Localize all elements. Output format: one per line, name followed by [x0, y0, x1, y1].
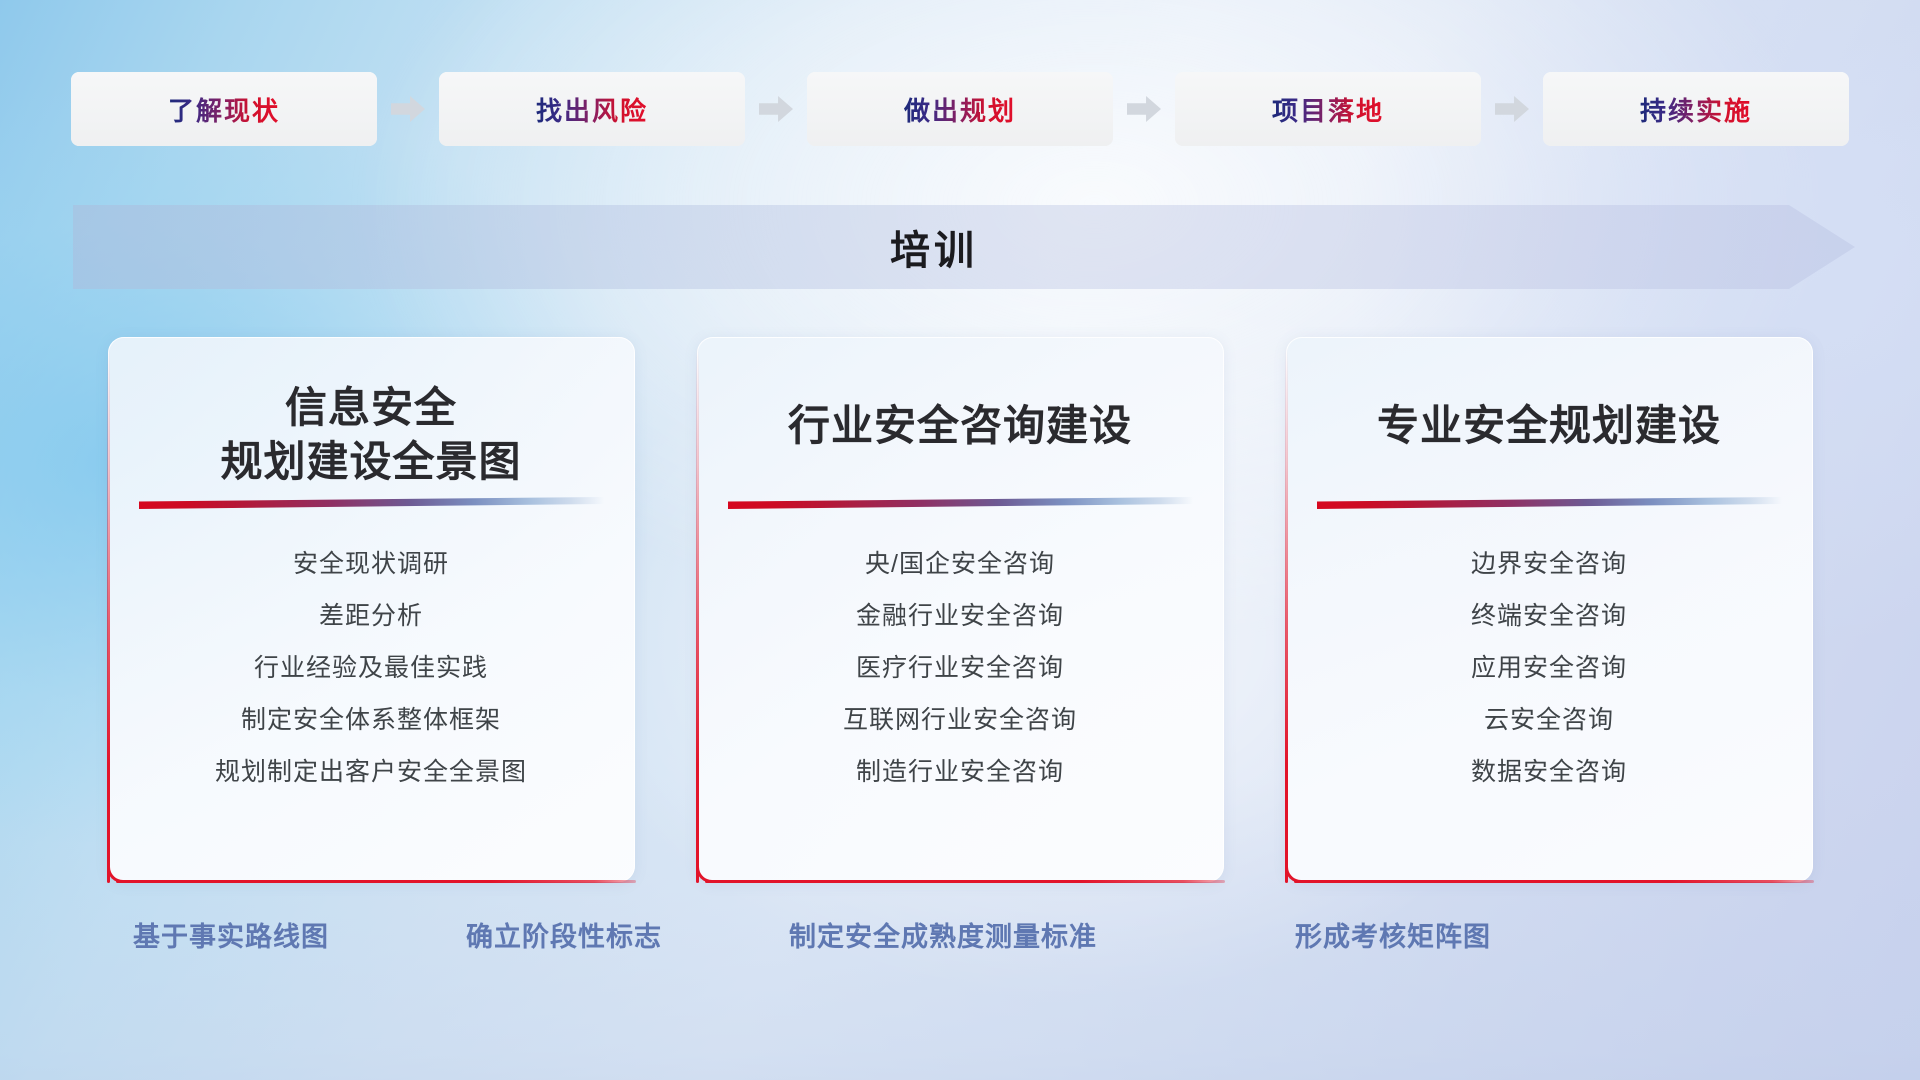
card-accent-corner	[107, 855, 135, 883]
arrow-right-icon	[1127, 96, 1161, 122]
arrow-right-icon	[759, 96, 793, 122]
card-accent-bottom-border	[705, 880, 1225, 883]
process-step-surface: 项目落地	[1175, 72, 1481, 146]
process-step-5[interactable]: 持续实施	[1543, 72, 1849, 146]
capability-card-title-line: 专业安全规划建设	[1310, 399, 1789, 453]
capability-card-title-line: 信息安全	[132, 381, 611, 435]
process-step-label: 了解现状	[168, 91, 280, 128]
caption-4: 形成考核矩阵图	[1295, 915, 1491, 954]
capability-card-list-item[interactable]: 差距分析	[108, 604, 635, 629]
capability-card-list-item[interactable]: 制造行业安全咨询	[697, 760, 1224, 785]
process-step-surface: 找出风险	[439, 72, 745, 146]
caption-2: 确立阶段性标志	[466, 915, 662, 954]
card-accent-corner	[696, 855, 724, 883]
card-divider-gradient-bar	[139, 497, 604, 509]
capability-card-title: 专业安全规划建设	[1286, 399, 1813, 453]
capability-card-list-item[interactable]: 规划制定出客户安全全景图	[108, 760, 635, 785]
process-step-surface: 了解现状	[71, 72, 377, 146]
capability-card-title: 行业安全咨询建设	[697, 399, 1224, 453]
card-divider-gradient-bar	[728, 497, 1193, 509]
capability-card-list-item[interactable]: 安全现状调研	[108, 552, 635, 577]
capability-card-list-item[interactable]: 金融行业安全咨询	[697, 604, 1224, 629]
process-step-surface: 持续实施	[1543, 72, 1849, 146]
caption-3: 制定安全成熟度测量标准	[789, 915, 1097, 954]
process-step-label: 找出风险	[536, 91, 648, 128]
card-accent-bottom-border	[1294, 880, 1814, 883]
capability-card-list-item[interactable]: 终端安全咨询	[1286, 604, 1813, 629]
capability-card-list-item[interactable]: 云安全咨询	[1286, 708, 1813, 733]
training-banner: 培训	[73, 205, 1855, 289]
arrow-right-icon	[1495, 96, 1529, 122]
process-arrow-separator	[1113, 72, 1175, 146]
card-accent-bottom-border	[116, 880, 636, 883]
process-step-4[interactable]: 项目落地	[1175, 72, 1481, 146]
process-arrow-separator	[1481, 72, 1543, 146]
training-banner-title: 培训	[73, 205, 1855, 289]
card-divider	[1317, 497, 1782, 509]
capability-card-title-line: 行业安全咨询建设	[721, 399, 1200, 453]
capability-card-3[interactable]: 专业安全规划建设边界安全咨询终端安全咨询应用安全咨询云安全咨询数据安全咨询	[1286, 337, 1813, 882]
capability-card-list-item[interactable]: 数据安全咨询	[1286, 760, 1813, 785]
arrow-right-icon	[391, 96, 425, 122]
capability-card-list-item[interactable]: 边界安全咨询	[1286, 552, 1813, 577]
process-step-label: 做出规划	[904, 91, 1016, 128]
card-accent-corner	[1285, 855, 1313, 883]
caption-row: 基于事实路线图确立阶段性标志制定安全成熟度测量标准形成考核矩阵图	[0, 915, 1920, 975]
capability-card-title: 信息安全规划建设全景图	[108, 381, 635, 489]
capability-card-list-item[interactable]: 应用安全咨询	[1286, 656, 1813, 681]
capability-card-row: 信息安全规划建设全景图安全现状调研差距分析行业经验及最佳实践制定安全体系整体框架…	[0, 337, 1920, 882]
capability-card-1[interactable]: 信息安全规划建设全景图安全现状调研差距分析行业经验及最佳实践制定安全体系整体框架…	[108, 337, 635, 882]
capability-card-list-item[interactable]: 医疗行业安全咨询	[697, 656, 1224, 681]
process-step-1[interactable]: 了解现状	[71, 72, 377, 146]
process-arrow-separator	[745, 72, 807, 146]
card-divider	[139, 497, 604, 509]
capability-card-list-item[interactable]: 制定安全体系整体框架	[108, 708, 635, 733]
caption-1: 基于事实路线图	[133, 915, 329, 954]
capability-card-2[interactable]: 行业安全咨询建设央/国企安全咨询金融行业安全咨询医疗行业安全咨询互联网行业安全咨…	[697, 337, 1224, 882]
card-divider-gradient-bar	[1317, 497, 1782, 509]
capability-card-list-item[interactable]: 互联网行业安全咨询	[697, 708, 1224, 733]
capability-card-list: 安全现状调研差距分析行业经验及最佳实践制定安全体系整体框架规划制定出客户安全全景…	[108, 552, 635, 785]
capability-card-list: 央/国企安全咨询金融行业安全咨询医疗行业安全咨询互联网行业安全咨询制造行业安全咨…	[697, 552, 1224, 785]
capability-card-list-item[interactable]: 央/国企安全咨询	[697, 552, 1224, 577]
process-step-label: 持续实施	[1640, 91, 1752, 128]
process-step-strip: 了解现状找出风险做出规划项目落地持续实施	[0, 72, 1920, 146]
process-step-surface: 做出规划	[807, 72, 1113, 146]
capability-card-title-line: 规划建设全景图	[132, 435, 611, 489]
capability-card-list: 边界安全咨询终端安全咨询应用安全咨询云安全咨询数据安全咨询	[1286, 552, 1813, 785]
process-step-3[interactable]: 做出规划	[807, 72, 1113, 146]
process-arrow-separator	[377, 72, 439, 146]
card-divider	[728, 497, 1193, 509]
process-step-2[interactable]: 找出风险	[439, 72, 745, 146]
process-step-label: 项目落地	[1272, 91, 1384, 128]
capability-card-list-item[interactable]: 行业经验及最佳实践	[108, 656, 635, 681]
